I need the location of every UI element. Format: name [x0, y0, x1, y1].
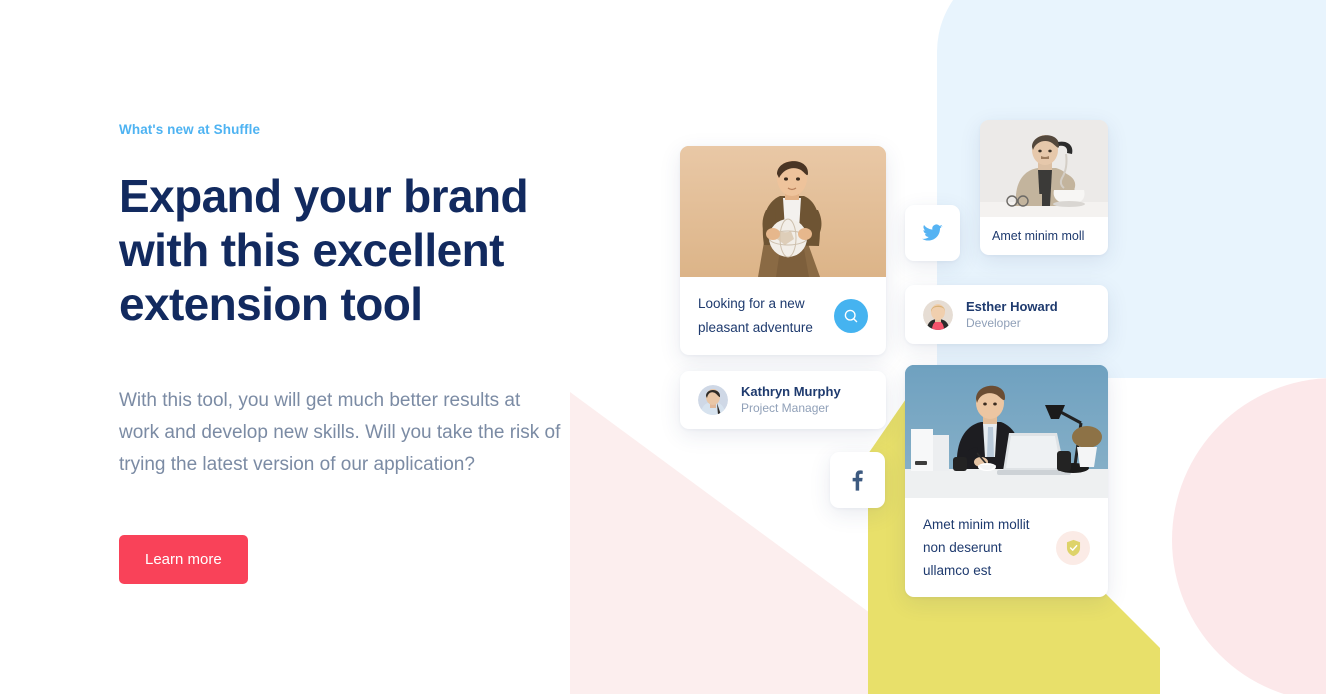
profile-card-kathryn-murphy[interactable]: Kathryn Murphy Project Manager [680, 371, 886, 429]
eyebrow-label: What's new at Shuffle [119, 122, 589, 137]
card-desk-caption: Amet minim mollit non deserunt ullamco e… [923, 513, 1048, 582]
profile-name: Esther Howard [966, 298, 1058, 315]
twitter-icon [922, 224, 943, 242]
hero-section: What's new at Shuffle Expand your brand … [0, 0, 1326, 694]
profile-text-kathryn: Kathryn Murphy Project Manager [741, 383, 841, 417]
hero-description: With this tool, you will get much better… [119, 385, 564, 481]
profile-name: Kathryn Murphy [741, 383, 841, 400]
search-icon[interactable] [834, 299, 868, 333]
social-button-facebook[interactable] [830, 452, 885, 508]
card-desk-body: Amet minim mollit non deserunt ullamco e… [905, 498, 1108, 597]
card-phone[interactable]: Amet minim moll [980, 120, 1108, 255]
man-on-telephone-photo [980, 120, 1108, 217]
card-phone-caption: Amet minim moll [992, 228, 1084, 244]
profile-role: Developer [966, 315, 1058, 332]
man-at-desk-with-laptop-photo [905, 365, 1108, 498]
profile-role: Project Manager [741, 400, 841, 417]
page-title: Expand your brand with this excellent ex… [119, 169, 549, 331]
card-adventure[interactable]: Looking for a new pleasant adventure [680, 146, 886, 355]
card-adventure-caption: Looking for a new pleasant adventure [698, 292, 826, 340]
hero-copy: What's new at Shuffle Expand your brand … [119, 122, 589, 584]
learn-more-button[interactable]: Learn more [119, 535, 248, 584]
man-holding-globe-photo [680, 146, 886, 277]
kathryn-murphy-avatar [698, 385, 728, 415]
profile-card-esther-howard[interactable]: Esther Howard Developer [905, 285, 1108, 344]
shield-check-icon[interactable] [1056, 531, 1090, 565]
card-adventure-body: Looking for a new pleasant adventure [680, 277, 886, 355]
profile-text-esther: Esther Howard Developer [966, 298, 1058, 332]
social-button-twitter[interactable] [905, 205, 960, 261]
pink-circle-shape [1172, 378, 1326, 694]
facebook-icon [852, 470, 863, 491]
esther-howard-avatar [923, 300, 953, 330]
card-desk[interactable]: Amet minim mollit non deserunt ullamco e… [905, 365, 1108, 597]
card-phone-body: Amet minim moll [980, 217, 1108, 255]
